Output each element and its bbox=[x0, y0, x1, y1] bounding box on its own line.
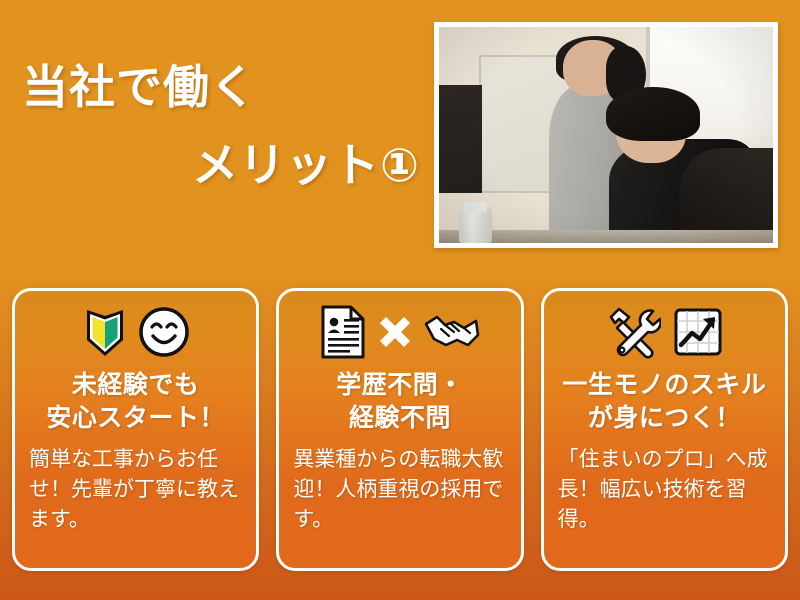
chart-increasing-icon bbox=[673, 307, 723, 357]
beginner-mark-icon bbox=[83, 306, 127, 358]
resume-document-icon bbox=[320, 305, 366, 359]
hero-photo bbox=[439, 27, 773, 243]
benefit-card-2-title: 学歴不問・ 経験不問 bbox=[291, 369, 508, 435]
hammer-and-wrench-icon bbox=[605, 305, 661, 359]
benefit-card-3-title: 一生モノのスキル が身につく！ bbox=[556, 369, 773, 435]
handshake-icon bbox=[424, 311, 480, 353]
recruitment-slide: 当社で働く メリット① bbox=[0, 0, 800, 600]
benefit-card-3: 一生モノのスキル が身につく！ 「住まいのプロ」へ成長！幅広い技術を習得。 bbox=[541, 288, 788, 571]
benefit-card-1-title: 未経験でも 安心スタート！ bbox=[27, 369, 244, 435]
slide-title: 当社で働く メリット① bbox=[0, 62, 430, 191]
benefit-card-3-icons bbox=[556, 301, 773, 363]
benefit-card-1: 未経験でも 安心スタート！ 簡単な工事からお任せ！先輩が丁寧に教えます。 bbox=[12, 288, 259, 571]
benefit-card-2: 学歴不問・ 経験不問 異業種からの転職大歓迎！人柄重視の採用です。 bbox=[276, 288, 523, 571]
smiling-face-icon bbox=[139, 307, 189, 357]
benefit-card-3-body: 「住まいのプロ」へ成長！幅広い技術を習得。 bbox=[556, 445, 773, 534]
benefit-card-2-body: 異業種からの転職大歓迎！人柄重視の採用です。 bbox=[291, 445, 508, 534]
benefit-card-1-icons bbox=[27, 301, 244, 363]
hero-photo-frame bbox=[434, 22, 778, 248]
benefit-card-2-icons bbox=[291, 301, 508, 363]
title-line-2: メリット① bbox=[0, 140, 430, 192]
benefit-card-list: 未経験でも 安心スタート！ 簡単な工事からお任せ！先輩が丁寧に教えます。 bbox=[12, 288, 788, 571]
benefit-card-1-body: 簡単な工事からお任せ！先輩が丁寧に教えます。 bbox=[27, 445, 244, 534]
cross-mark-icon bbox=[378, 315, 412, 349]
title-line-1: 当社で働く bbox=[0, 62, 430, 114]
photo-vignette bbox=[439, 27, 773, 243]
